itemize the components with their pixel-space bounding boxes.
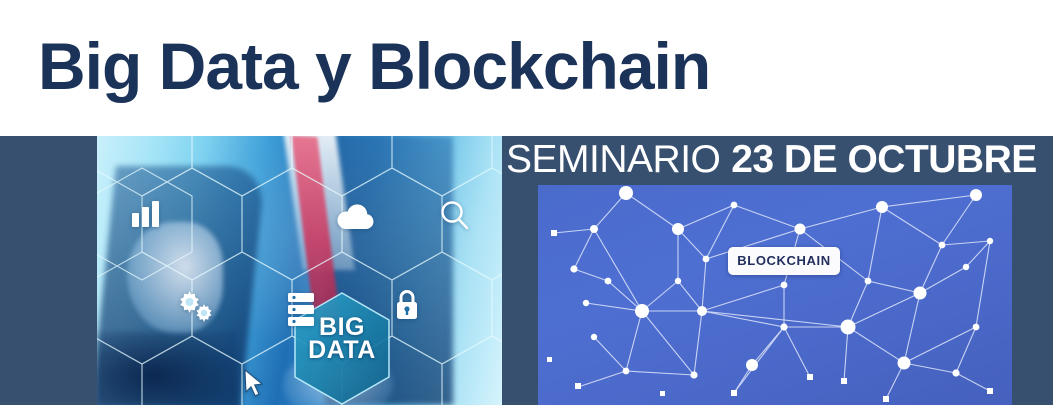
gears-icon — [172, 288, 218, 331]
big-data-label-line2: DATA — [297, 339, 387, 362]
blockchain-label: BLOCKCHAIN — [728, 247, 840, 275]
lock-icon — [393, 288, 421, 327]
big-data-image: BIG DATA — [97, 136, 502, 405]
bar-chart-icon — [130, 199, 164, 234]
cursor-arrow-icon — [242, 368, 268, 405]
page-title: Big Data y Blockchain — [38, 28, 710, 104]
cloud-icon — [335, 204, 375, 237]
poster-root: Big Data y Blockchain — [0, 0, 1053, 405]
server-rack-icon — [286, 291, 316, 334]
blockchain-image: BLOCKCHAIN — [538, 185, 1012, 405]
seminar-date: 23 DE OCTUBRE — [731, 138, 1037, 181]
blockchain-network-graph — [538, 185, 1012, 405]
search-icon — [438, 199, 472, 238]
seminar-label: SEMINARIO — [506, 138, 720, 181]
seminar-headline: SEMINARIO 23 DE OCTUBRE — [506, 137, 1037, 183]
header: Big Data y Blockchain — [0, 0, 1053, 136]
